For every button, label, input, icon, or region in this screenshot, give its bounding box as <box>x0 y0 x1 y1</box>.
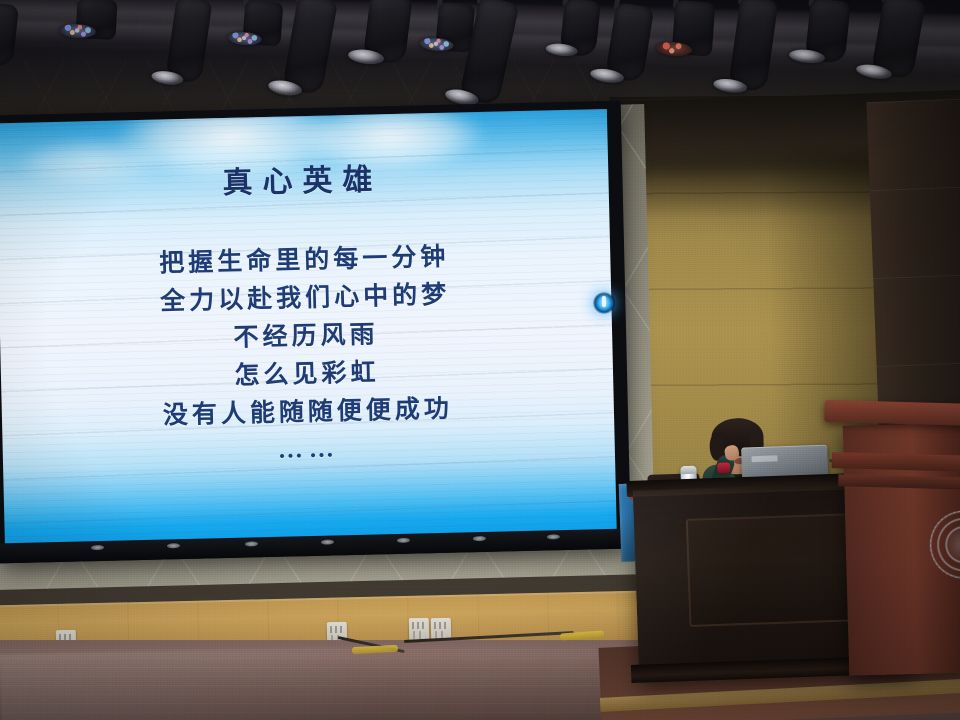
wristwatch <box>717 462 730 473</box>
podium-top-surface <box>824 400 960 426</box>
auditorium-scene: 真心英雄 把握生命里的每一分钟 全力以赴我们心中的梦 不经历风雨 怎么见彩虹 没… <box>0 0 960 720</box>
podium-lower-molding <box>838 474 960 490</box>
led-presentation-screen[interactable]: 真心英雄 把握生命里的每一分钟 全力以赴我们心中的梦 不经历风雨 怎么见彩虹 没… <box>0 101 631 564</box>
led-panel-seams <box>0 109 617 545</box>
podium-upper-molding <box>832 452 960 472</box>
laptop-brand-logo <box>751 455 777 462</box>
screen-display-area: 真心英雄 把握生命里的每一分钟 全力以赴我们心中的梦 不经历风雨 怎么见彩虹 没… <box>0 109 617 545</box>
floor-reflection <box>0 642 621 720</box>
speaking-podium <box>843 422 960 675</box>
institutional-seal-emblem <box>915 495 960 593</box>
